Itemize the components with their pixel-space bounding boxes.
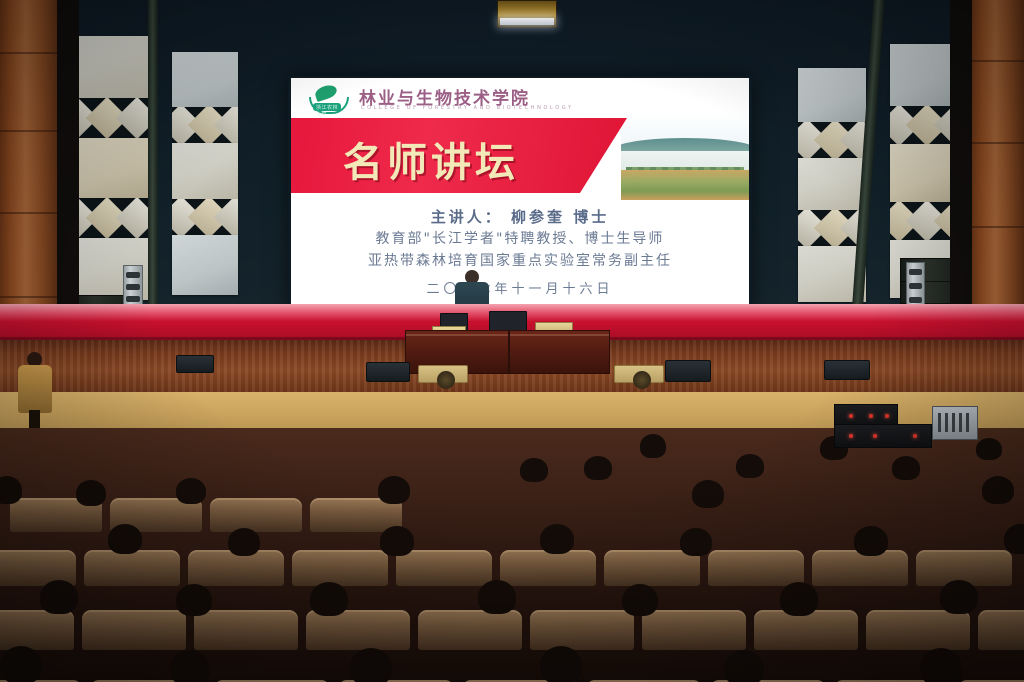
logo-name-text: 浙江农林大学 — [316, 104, 341, 118]
stage-monitor-4 — [665, 360, 711, 382]
stage-monitor-1 — [366, 362, 410, 382]
stage-monitor-5 — [824, 360, 870, 380]
audience-seating-area — [0, 428, 1024, 682]
photo-field — [621, 170, 749, 200]
college-logo-icon: 浙江农林大学 — [305, 84, 353, 114]
standing-person-left-aisle — [18, 352, 52, 432]
slide-main-title: 名师讲坛 — [343, 130, 519, 188]
slide-department-subtitle: COLLEGE OF FORESTRY AND BIOTECHNOLOGY — [361, 105, 574, 111]
projection-screen: 浙江农林大学 林业与生物技术学院 COLLEGE OF FORESTRY AND… — [291, 78, 749, 306]
slide-speaker-line: 主讲人： 柳参奎 博士 — [291, 206, 749, 227]
floor-case-left — [176, 355, 214, 373]
slide-credential-line-1: 教育部"长江学者"特聘教授、博士生导师 — [291, 228, 749, 248]
mixing-console[interactable] — [932, 406, 978, 440]
stage-light-fixture — [497, 0, 557, 28]
campus-landscape-photo — [621, 112, 749, 200]
slide-credential-line-2: 亚热带森林培育国家重点实验室常务副主任 — [291, 250, 749, 270]
person-coat — [18, 365, 52, 413]
stage-monitor-2 — [418, 365, 468, 383]
logo-name-band: 浙江农林大学 — [313, 103, 341, 111]
auditorium-photo: 浙江农林大学 林业与生物技术学院 COLLEGE OF FORESTRY AND… — [0, 0, 1024, 682]
truss-pole-left — [148, 0, 158, 330]
podium-seam — [508, 331, 510, 373]
amplifier-rack-bottom — [834, 424, 932, 448]
light-tube — [500, 18, 553, 25]
slide-date-line: 二〇一七年十一月十六日 — [291, 278, 749, 297]
stage-monitor-3 — [614, 365, 664, 383]
